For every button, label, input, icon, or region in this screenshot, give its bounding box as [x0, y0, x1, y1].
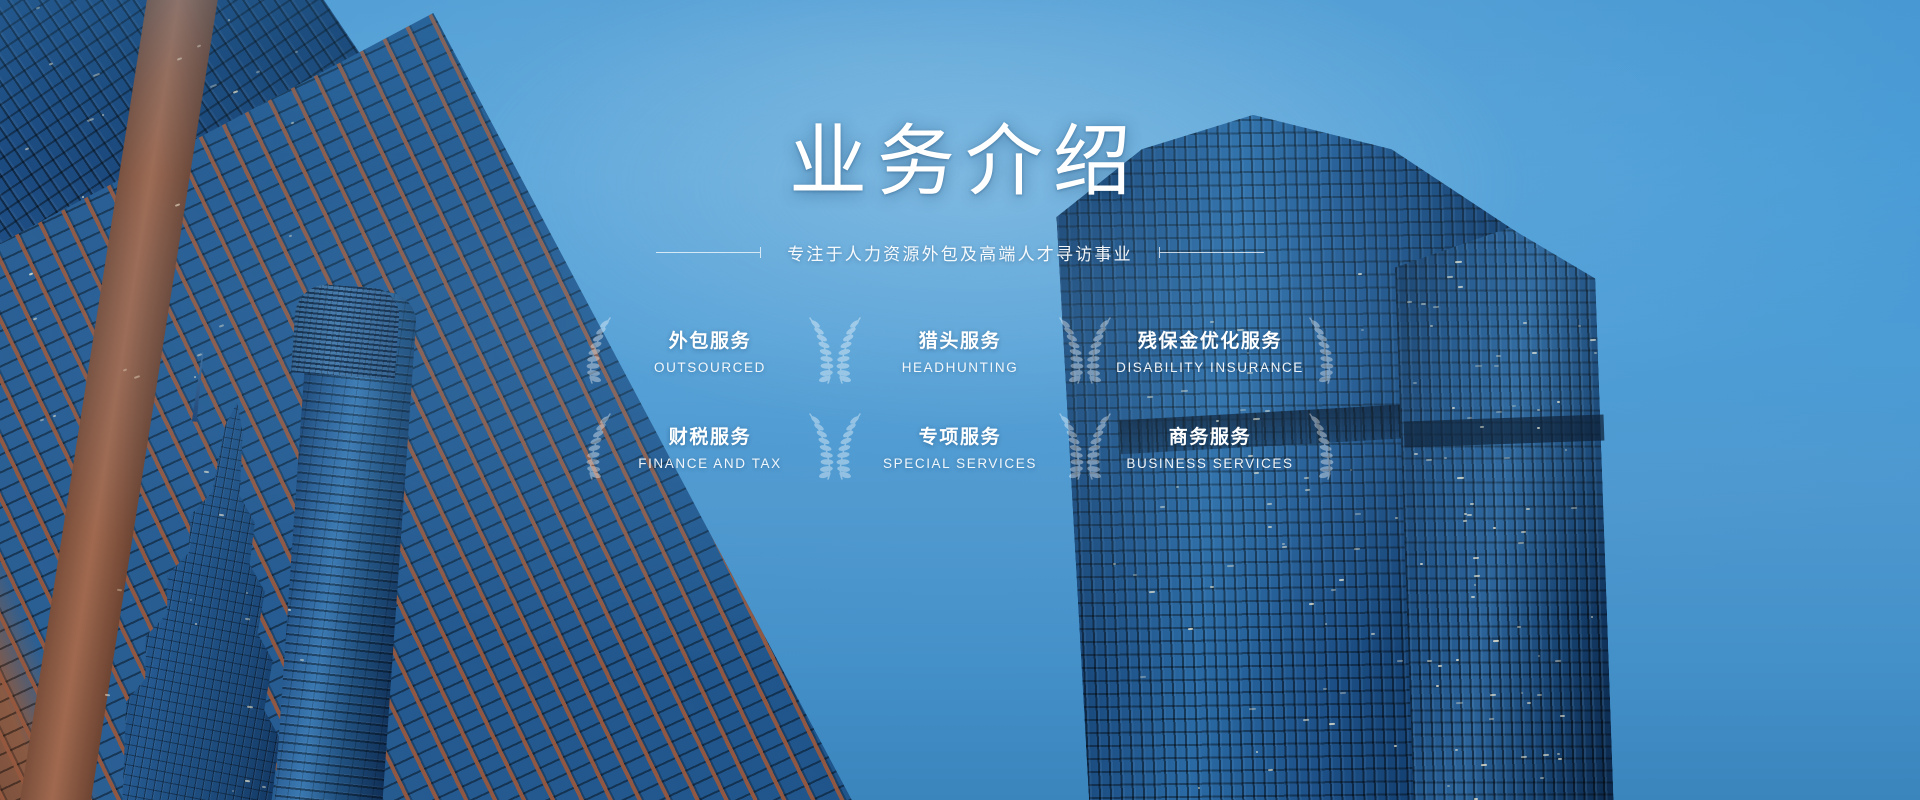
page-title: 业务介绍 [779, 122, 1141, 200]
laurel-wreath-left-icon [1083, 411, 1117, 481]
service-name-cn: 猎头服务 [919, 326, 1001, 353]
service-name-en: SPECIAL SERVICES [883, 456, 1037, 471]
service-item[interactable]: 残保金优化服务DISABILITY INSURANCE [1085, 311, 1335, 389]
laurel-wreath-right-icon [803, 411, 837, 481]
service-item[interactable]: 猎头服务HEADHUNTING [835, 311, 1085, 389]
services-grid: 外包服务OUTSOURCED 猎头服务HEADHUNTING [585, 311, 1335, 485]
service-name-cn: 外包服务 [669, 326, 751, 353]
laurel-wreath-left-icon [583, 411, 617, 481]
service-item[interactable]: 财税服务FINANCE AND TAX [585, 407, 835, 485]
service-name-cn: 商务服务 [1169, 422, 1251, 449]
laurel-wreath-right-icon [1053, 411, 1087, 481]
service-item[interactable]: 外包服务OUTSOURCED [585, 311, 835, 389]
page-subtitle: 专注于人力资源外包及高端人才寻访事业 [787, 240, 1133, 265]
service-name-cn: 财税服务 [669, 422, 751, 449]
subtitle-row: 专注于人力资源外包及高端人才寻访事业 [656, 240, 1264, 265]
service-name-cn: 残保金优化服务 [1138, 326, 1282, 353]
banner-content: 业务介绍 专注于人力资源外包及高端人才寻访事业 [0, 0, 1920, 800]
service-item[interactable]: 专项服务SPECIAL SERVICES [835, 407, 1085, 485]
laurel-wreath-right-icon [803, 315, 837, 385]
laurel-wreath-left-icon [1083, 315, 1117, 385]
service-name-en: FINANCE AND TAX [638, 456, 782, 471]
service-name-en: OUTSOURCED [654, 360, 766, 375]
laurel-wreath-right-icon [1303, 315, 1337, 385]
business-intro-banner: 业务介绍 专注于人力资源外包及高端人才寻访事业 [0, 0, 1920, 800]
service-name-en: BUSINESS SERVICES [1126, 456, 1293, 471]
laurel-wreath-left-icon [833, 315, 867, 385]
service-item[interactable]: 商务服务BUSINESS SERVICES [1085, 407, 1335, 485]
laurel-wreath-left-icon [583, 315, 617, 385]
laurel-wreath-right-icon [1303, 411, 1337, 481]
laurel-wreath-left-icon [833, 411, 867, 481]
service-name-cn: 专项服务 [919, 422, 1001, 449]
service-name-en: HEADHUNTING [902, 360, 1019, 375]
divider-rule-left-icon [656, 247, 761, 258]
laurel-wreath-right-icon [1053, 315, 1087, 385]
divider-rule-right-icon [1159, 247, 1264, 258]
service-name-en: DISABILITY INSURANCE [1116, 360, 1304, 375]
